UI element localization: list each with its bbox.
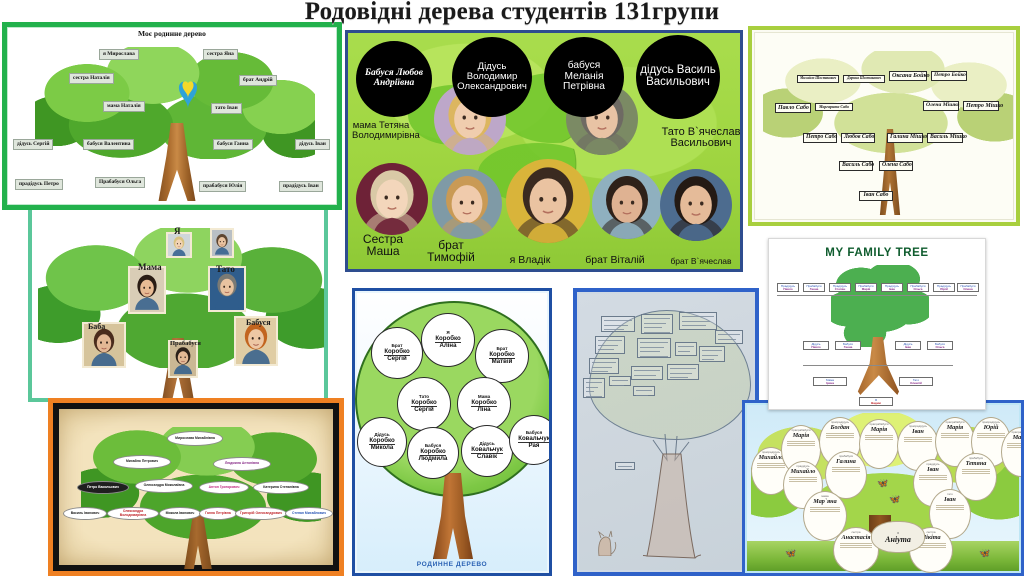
handwritten-name-box <box>675 342 697 356</box>
oval-name-node: прапрабабусяМарія <box>859 419 899 469</box>
family-label: бабуся Ганна <box>213 139 253 150</box>
writing-rule <box>787 441 814 442</box>
writing-rule <box>787 443 814 444</box>
writing-rule <box>840 545 872 546</box>
writing-rule <box>789 481 816 482</box>
family-tree-node: ТатоОлексій <box>899 377 933 386</box>
cross-stitch-name-box: Олена Сабо <box>879 161 913 171</box>
family-tree-node: БабусяОльга <box>927 341 953 350</box>
family-label: Прабабуся Ольга <box>95 177 145 188</box>
given-name-label: Рая <box>529 443 540 449</box>
handwriting-stroke <box>702 350 722 351</box>
writing-rule <box>865 437 892 438</box>
handwriting-stroke <box>586 391 594 392</box>
person-photo-brother-3 <box>660 169 732 241</box>
connector-line <box>777 295 977 296</box>
writing-rule <box>904 437 933 438</box>
name-label: Павло <box>805 346 828 349</box>
writing-rule <box>840 547 872 548</box>
parchment-name-node: Антон Григорович <box>199 481 249 494</box>
photo-caption: брат Тимофій <box>418 239 484 263</box>
handwritten-name-box <box>699 346 725 362</box>
handwritten-name-box <box>637 338 671 358</box>
korobko-name-circle: БратКоробкоМатвій <box>475 329 529 383</box>
writing-rule <box>810 507 840 508</box>
photo-caption: мама Тетяна Володимирівна <box>352 121 410 140</box>
name-label: Іван <box>897 346 920 349</box>
connector-line <box>803 365 953 366</box>
name-label: Павло <box>779 288 798 291</box>
cross-stitch-name-box: Олена Мішко <box>923 101 959 111</box>
family-tree-node: МамаІрина <box>813 377 847 386</box>
writing-rule <box>936 505 965 506</box>
family-label: я Мирослава <box>99 49 139 60</box>
green-crown-illustration <box>831 265 929 347</box>
name-label: Ганна <box>837 346 860 349</box>
relative-label: Баба <box>88 322 105 331</box>
writing-rule <box>1007 445 1024 446</box>
family-tree-node: ПрадідусьЮрій <box>933 283 955 292</box>
writing-rule <box>941 433 968 434</box>
family-label: мама Наталія <box>103 101 145 112</box>
handwriting-stroke <box>598 340 622 341</box>
face-illustration <box>210 268 244 310</box>
cross-stitch-name-box: Василь Мішко <box>927 133 963 143</box>
name-label: Олексій <box>901 382 932 385</box>
writing-rule <box>904 441 933 442</box>
face-illustration <box>168 234 190 256</box>
pencil-drawing-paper <box>579 294 753 570</box>
photo-caption: Тато В`ячеслав Васильович <box>658 127 743 149</box>
given-name-label: Аліна <box>439 343 456 349</box>
family-tree-node: ЯВадим <box>859 397 893 406</box>
panel-cross-stitch-family-tree[interactable]: Михайло ШостаковичДарина ШостаковичОксан… <box>748 26 1020 226</box>
handwriting-stroke <box>592 362 616 363</box>
korobko-name-circle: ЯКоробкоАліна <box>421 313 475 367</box>
parchment-name-node: Василь Іванович <box>63 507 107 520</box>
handwriting-stroke <box>682 316 714 317</box>
person-photo <box>210 228 234 258</box>
parchment-name-node: Ганна Петрівна <box>199 507 237 520</box>
handwriting-stroke <box>670 368 696 369</box>
writing-rule <box>941 437 968 438</box>
self-name-node: ЯАніута <box>871 521 925 553</box>
handwriting-stroke <box>644 318 670 319</box>
writing-rule <box>977 433 1004 434</box>
family-tree-node: ПрадідусьІван <box>881 283 903 292</box>
panel-parchment-family-tree[interactable]: Мирослава МихайлівнаМихайло ПетровичЛюдм… <box>48 398 344 576</box>
handwriting-stroke <box>670 377 688 378</box>
sky-background: ЯКоробкоАлінаБратКоробкоСергійБратКоробк… <box>357 293 547 571</box>
writing-rule <box>936 507 965 508</box>
handwritten-name-box <box>615 462 635 470</box>
panel-korobko-family-tree[interactable]: ЯКоробкоАлінаБратКоробкоСергійБратКоробк… <box>352 288 552 576</box>
name-label: Степан <box>831 288 850 291</box>
name-label: Юрій <box>935 288 954 291</box>
family-label: дідусь Сергій <box>13 139 53 150</box>
handwriting-stroke <box>586 396 602 397</box>
butterfly-icon: 🦋 <box>877 479 888 488</box>
page-title: Родовідні дерева студентів 131групи <box>0 0 1024 26</box>
face-illustration <box>212 230 232 256</box>
writing-rule <box>865 439 892 440</box>
handwriting-stroke <box>682 325 706 326</box>
korobko-name-circle: ДідусьКоробкоМикола <box>357 417 407 467</box>
handwriting-stroke <box>640 347 664 348</box>
name-label: Марія <box>871 426 888 433</box>
handwritten-name-box <box>583 378 605 398</box>
given-name-label: Матвій <box>492 359 513 365</box>
writing-rule <box>977 435 1004 436</box>
family-label: прадідусь Петро <box>15 179 63 190</box>
writing-rule <box>789 479 816 480</box>
name-label: Іван <box>927 466 939 473</box>
family-tree-node: ПрабабусяОлена <box>957 283 979 292</box>
person-photo-brother-small <box>432 169 502 239</box>
relative-name-text: дідусь Василь Васильович <box>640 65 716 88</box>
family-label: сестра Наталія <box>69 73 114 84</box>
name-label: Мар`яна <box>813 498 836 505</box>
writing-rule <box>936 509 965 510</box>
panel-my-family-tree[interactable]: MY FAMILY TREE ПрадідусьПавлоПрабабусяГа… <box>768 238 986 410</box>
family-tree-node: ПрабабусяОльга <box>907 283 929 292</box>
parchment-name-node: Григорій Олександрович <box>235 507 287 520</box>
butterfly-icon: 🦋 <box>889 495 900 504</box>
handwriting-stroke <box>634 370 660 371</box>
cross-stitch-name-box: Дарина Шостакович <box>843 75 885 83</box>
parchment-background: Мирослава МихайлівнаМихайло ПетровичЛюдм… <box>59 409 333 565</box>
name-label: Ганна <box>805 288 824 291</box>
writing-rule <box>1007 447 1024 448</box>
handwritten-name-box <box>601 316 635 332</box>
parchment-name-node: Олександра Володимирівна <box>107 507 159 520</box>
writing-rule <box>757 463 784 464</box>
cross-stitch-name-box: Петро Сабо <box>803 133 837 143</box>
person-photo <box>128 266 166 314</box>
given-name-label: Микола <box>371 445 394 451</box>
face-illustration <box>660 169 732 241</box>
handwriting-stroke <box>604 320 632 321</box>
family-label: прабабуся Юлія <box>199 181 246 192</box>
handwriting-stroke <box>598 349 614 350</box>
handwriting-stroke <box>592 371 608 372</box>
relative-label: Бабуся <box>246 318 271 327</box>
writing-rule <box>962 469 991 470</box>
panel-watercolour-family-tree[interactable]: прапрадідусьМихайлопрапрабабусяМаріяпрап… <box>742 400 1024 576</box>
given-name-label: Ліна <box>477 407 490 413</box>
relative-name-text: Бабуся Любов Андріївна <box>360 69 428 88</box>
parchment-name-node: Катерина Степанівна <box>253 481 309 494</box>
name-label: Іван <box>912 428 924 435</box>
writing-rule <box>832 471 861 472</box>
family-tree-node: ПрабабусяМарія <box>855 283 877 292</box>
face-illustration <box>506 159 590 243</box>
person-photo-sister <box>356 163 428 235</box>
photo-caption: я Владік <box>500 255 560 266</box>
heart-logo-icon <box>175 79 201 113</box>
cross-stitch-name-box: Павло Сабо <box>775 103 811 113</box>
panel-photo-circle-family-tree[interactable]: Бабуся Любов АндріївнаДідусь Володимир О… <box>345 30 743 272</box>
face-illustration <box>130 268 164 312</box>
name-label: Вадим <box>861 402 892 405</box>
panel8-title: MY FAMILY TREE <box>769 247 985 259</box>
family-label: тато Іван <box>211 103 242 114</box>
given-name-label: Сергій <box>414 407 434 413</box>
name-label: Марія <box>1013 434 1024 441</box>
relative-label: Мама <box>138 262 162 272</box>
handwritten-name-box <box>633 386 655 396</box>
writing-rule <box>757 465 784 466</box>
handwriting-stroke <box>718 334 740 335</box>
relative-label: Я <box>174 226 181 236</box>
family-label: бабуся Валентина <box>83 139 134 150</box>
given-name-label: Сергій <box>387 356 407 362</box>
handwriting-stroke <box>718 339 736 340</box>
writing-rule <box>962 473 991 474</box>
handwritten-name-box <box>715 330 743 344</box>
handwriting-stroke <box>604 329 624 330</box>
name-label: Галина <box>836 458 856 465</box>
name-label: Юрій <box>984 424 999 431</box>
writing-rule <box>919 479 946 480</box>
family-tree-node: ПрабабусяГанна <box>803 283 825 292</box>
handwritten-name-box <box>589 358 619 374</box>
relative-name-circle: бабуся Меланія Петрівна <box>544 37 624 117</box>
family-label: прадідусь Іван <box>279 181 323 192</box>
panel-moye-rodynne-derevo[interactable]: Моє родинне дерево я Мирославасестра Яна… <box>2 22 342 210</box>
family-label: брат Андрій <box>239 75 277 86</box>
writing-rule <box>941 435 968 436</box>
name-label: Марія <box>857 288 876 291</box>
parchment-name-node: Михайло Петрович <box>113 455 171 469</box>
photo-caption: Сестра Маша <box>352 233 414 257</box>
butterfly-icon: 🦋 <box>785 549 796 558</box>
panel-photo-frame-family-tree[interactable]: ЯМамаТатоБабаПрабабусяБабуся <box>28 206 328 402</box>
relative-label: Тато <box>216 264 235 274</box>
family-label: сестра Яна <box>203 49 238 60</box>
cat-drawing-icon <box>593 526 617 556</box>
name-label: Ольга <box>929 346 952 349</box>
given-name-label: Людмила <box>419 456 448 462</box>
korobko-name-circle: БабусяКоробкоЛюдмила <box>407 427 459 479</box>
writing-rule <box>826 433 855 434</box>
writing-rule <box>810 511 840 512</box>
relative-name-circle: Дідусь Володимир Олександрович <box>452 37 532 117</box>
handwriting-stroke <box>678 346 694 347</box>
handwriting-stroke <box>678 351 690 352</box>
parchment-name-node: Олександра Миколаївна <box>135 479 193 493</box>
korobko-name-circle: ТатоКоробкоСергій <box>397 377 451 431</box>
name-label: Анастасія <box>842 534 871 541</box>
relative-label: Прабабуся <box>170 340 201 347</box>
writing-rule <box>977 437 1004 438</box>
handwritten-name-box <box>667 364 699 380</box>
name-label: Михайло <box>759 454 784 461</box>
writing-rule <box>1007 443 1024 444</box>
cross-stitch-name-box: Петро Бойко <box>931 71 967 81</box>
handwriting-stroke <box>640 356 668 357</box>
person-photo-self <box>506 159 590 243</box>
family-tree-node: БабусяГанна <box>835 341 861 350</box>
handwriting-stroke <box>636 390 652 391</box>
handwriting-stroke <box>612 385 624 386</box>
parchment-name-node: Людмила Антонівна <box>213 457 271 471</box>
writing-rule <box>832 467 861 468</box>
parchment-name-node: Петро Васильович <box>77 481 129 494</box>
relative-name-text: бабуся Меланія Петрівна <box>548 61 620 92</box>
cross-stitch-name-box: Галина Мішко <box>887 133 923 143</box>
face-illustration <box>592 169 662 239</box>
handwriting-stroke <box>702 359 714 360</box>
cross-stitch-name-box: Петро Мішко <box>963 101 999 111</box>
handwriting-stroke <box>640 342 668 343</box>
name-label: Олена <box>959 288 978 291</box>
handwriting-stroke <box>618 466 632 467</box>
handwriting-stroke <box>702 355 718 356</box>
parchment-name-node: Микола Іванович <box>159 507 201 520</box>
relative-name-circle: дідусь Василь Васильович <box>636 35 720 119</box>
name-label: Ірина <box>815 382 846 385</box>
korobko-name-circle: МамаКоробкоЛіна <box>457 377 511 431</box>
face-illustration <box>432 169 502 239</box>
name-label: Іван <box>883 288 902 291</box>
cross-stitch-name-box: Любов Сабо <box>841 133 875 143</box>
face-illustration <box>356 163 428 235</box>
handwritten-name-box <box>641 314 673 334</box>
handwriting-stroke <box>586 382 602 383</box>
writing-rule <box>826 435 855 436</box>
given-name-label: Славік <box>477 454 497 460</box>
writing-rule <box>865 435 892 436</box>
family-tree-node: ДідусьІван <box>895 341 921 350</box>
cross-stitch-name-box: Василь Сабо <box>839 161 873 171</box>
relative-name-circle: Бабуся Любов Андріївна <box>356 41 432 117</box>
name-label: Марія <box>947 424 964 431</box>
korobko-name-circle: БабусяКовальчукРая <box>509 415 552 465</box>
handwritten-name-box <box>609 376 631 386</box>
name-label: Іван <box>944 496 956 503</box>
family-tree-node: ДідусьПавло <box>803 341 829 350</box>
handwriting-stroke <box>598 345 618 346</box>
cross-stitch-name-box: Іван Сабо <box>859 191 893 201</box>
relative-name-text: Дідусь Володимир Олександрович <box>456 62 528 91</box>
family-tree-node: ПрадідусьСтепан <box>829 283 851 292</box>
handwritten-name-box <box>631 366 663 380</box>
name-label: Ольга <box>909 288 928 291</box>
parchment-name-node: Мирослава Михайлівна <box>167 431 223 446</box>
handwriting-stroke <box>670 373 692 374</box>
panel1-heading: Моє родинне дерево <box>7 29 337 38</box>
handwriting-stroke <box>592 367 612 368</box>
name-label: Марія <box>793 432 810 439</box>
handwriting-stroke <box>644 323 666 324</box>
parchment-name-node: Степан Михайлович <box>285 507 333 520</box>
name-label: Михайло <box>791 468 816 475</box>
handwriting-stroke <box>640 351 660 352</box>
name-label: Богдан <box>831 424 850 431</box>
photo-caption: брат Віталій <box>576 255 654 266</box>
photo-caption: брат В`ячеслав <box>658 257 743 266</box>
writing-rule <box>840 543 872 544</box>
handwriting-stroke <box>612 380 628 381</box>
slide-canvas: Родовідні дерева студентів 131групи Моє … <box>0 0 1024 576</box>
name-label: Тетяна <box>966 460 987 467</box>
face-illustration <box>170 342 196 376</box>
handwriting-stroke <box>644 332 670 333</box>
korobko-name-circle: ДідусьКовальчукСлавік <box>461 425 513 477</box>
writing-rule <box>919 477 946 478</box>
panel-hand-drawn-family-tree[interactable] <box>573 288 759 576</box>
writing-rule <box>757 467 784 468</box>
writing-rule <box>832 469 861 470</box>
family-label: дідусь Іван <box>295 139 330 150</box>
writing-rule <box>810 509 840 510</box>
panel6-footer-label: РОДИННЕ ДЕРЕВО <box>355 561 549 568</box>
cross-stitch-name-box: Михайло Шостакович <box>797 75 839 83</box>
cross-stitch-name-box: Оксана Бойко <box>889 71 927 81</box>
handwriting-stroke <box>586 387 598 388</box>
korobko-name-circle: БратКоробкоСергій <box>371 327 423 379</box>
writing-rule <box>919 475 946 476</box>
handwriting-stroke <box>644 327 662 328</box>
family-tree-node: ПрадідусьПавло <box>777 283 799 292</box>
writing-rule <box>787 445 814 446</box>
writing-rule <box>904 439 933 440</box>
cross-stitch-name-box: Маргарита Сабо <box>815 103 853 111</box>
person-photo-brother-2 <box>592 169 662 239</box>
handwriting-stroke <box>604 325 628 326</box>
handwritten-name-box <box>595 336 625 354</box>
writing-rule <box>789 477 816 478</box>
handwriting-stroke <box>682 321 710 322</box>
writing-rule <box>962 471 991 472</box>
writing-rule <box>826 437 855 438</box>
handwritten-name-box <box>679 312 717 330</box>
handwriting-stroke <box>634 375 656 376</box>
name-label: Аніута <box>885 535 911 544</box>
pencil-trunk-drawing <box>643 434 701 562</box>
handwriting-stroke <box>636 395 648 396</box>
butterfly-icon: 🦋 <box>979 549 990 558</box>
